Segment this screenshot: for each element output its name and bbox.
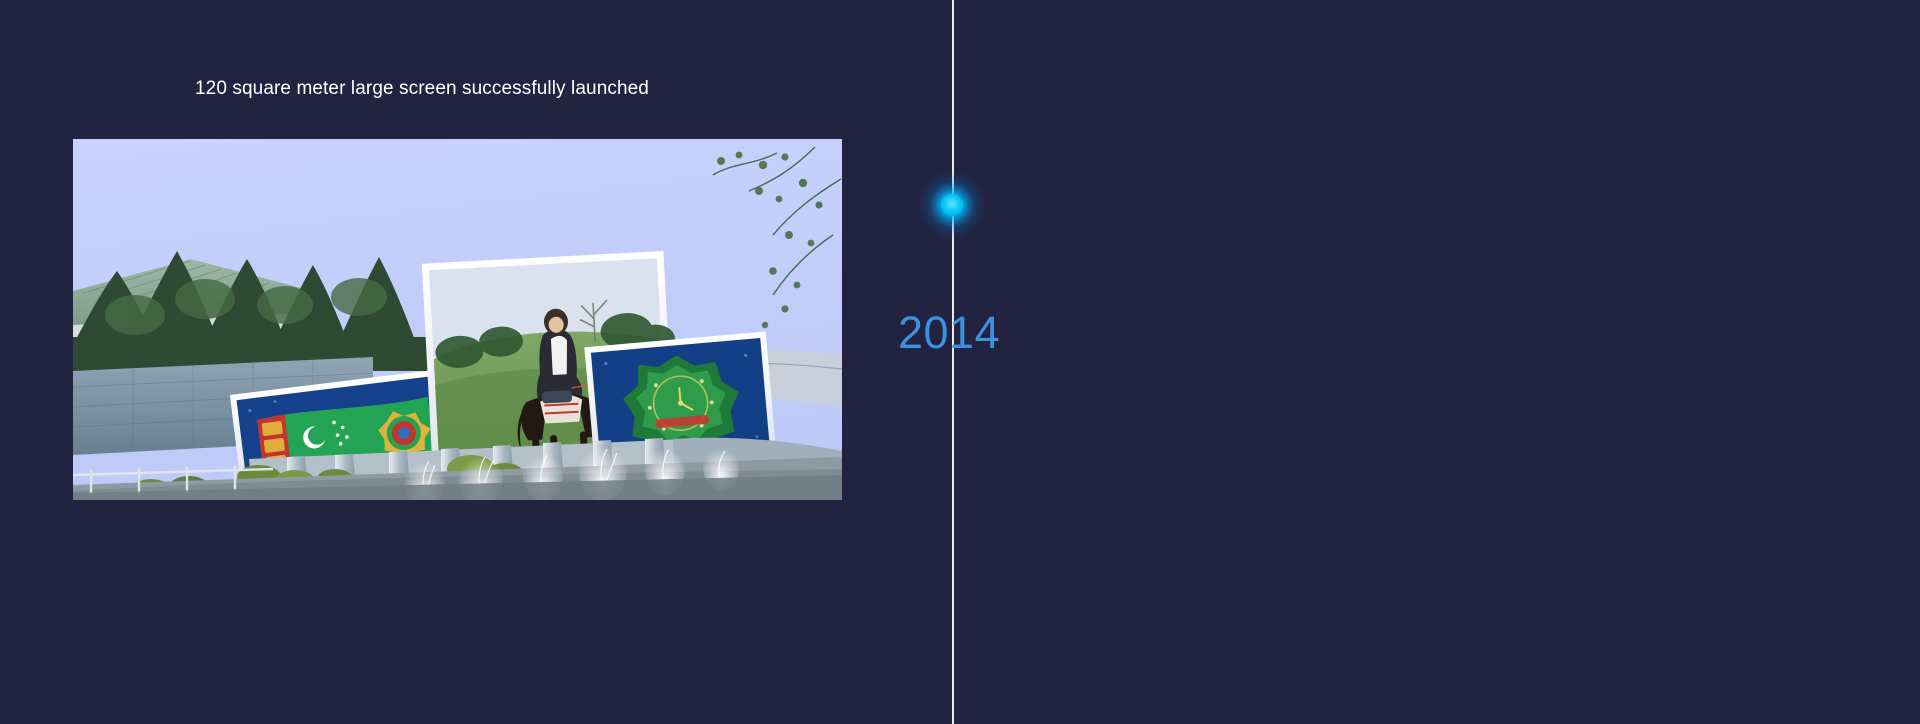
timeline-axis	[952, 0, 954, 724]
event-photo-image: TURKMENISTAN	[73, 139, 842, 500]
photo-caption: 120 square meter large screen successful…	[195, 78, 649, 100]
timeline-year-label: 2014	[898, 310, 1000, 355]
timeline-slide: 120 square meter large screen successful…	[0, 0, 1920, 724]
timeline-node-core	[941, 194, 963, 216]
event-photo: TURKMENISTAN	[73, 139, 842, 500]
